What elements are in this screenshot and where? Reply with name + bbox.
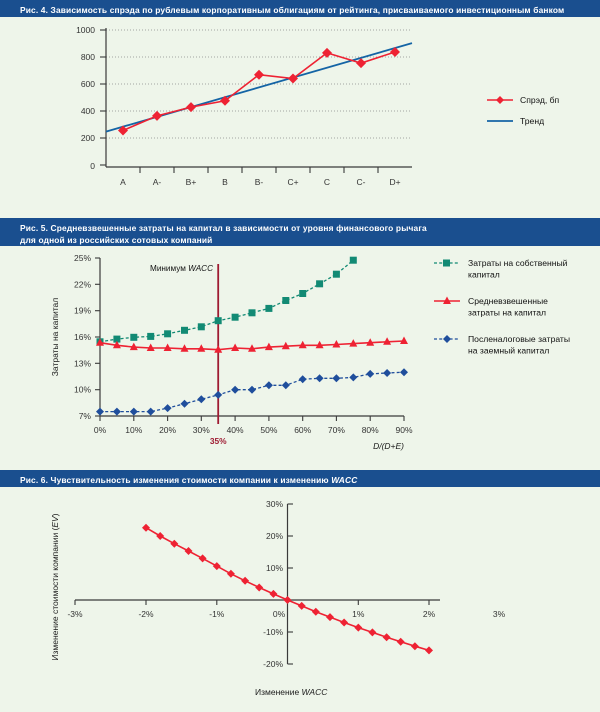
figure5-xtick-8: 80% [362,425,379,435]
figure5-caption-line1: Рис. 5. Средневзвешенные затраты на капи… [20,222,592,234]
figure6-ytick-30: 30% [266,499,283,509]
figure5-ytick-22: 22% [74,279,91,289]
figure5-y-tick-labels: 25% 22% 19% 16% 13% 10% 7% [74,253,91,421]
figure6-x-ticks [75,600,429,605]
figure4-x-ticks [140,167,378,173]
figure4-legend-label-spread: Спрэд, бп [520,95,560,105]
figure4-ytick-800: 800 [81,52,95,62]
figure4-chart: 1000 800 600 400 200 0 A A- [0,17,600,213]
figure4-series-spread [123,52,395,131]
figure6-x-axis-title: Изменение WACC [255,687,328,697]
figure5-xtick-6: 60% [294,425,311,435]
figure6-caption-text: Рис. 6. Чувствительность изменения стоим… [20,475,331,485]
figure4-x-tick-labels: A A- B+ B B- C+ C C- D+ [120,177,400,187]
figure5-ytick-16: 16% [74,332,91,342]
figure5-series-equity [100,260,353,342]
figure5-ytick-10: 10% [74,385,91,395]
figure6-panel: 30% 20% 10% -10% -20% -3% -2% -1% 0% 1% … [0,487,600,712]
figure5-xtick-1: 10% [125,425,142,435]
figure5-xtick-3: 30% [193,425,210,435]
figure5-ytick-19: 19% [74,306,91,316]
figure4-ytick-200: 200 [81,133,95,143]
figure5-ytick-13: 13% [74,358,91,368]
figure5-ytick-7: 7% [79,411,92,421]
figure5-xtick-2: 20% [159,425,176,435]
figure5-xtick-4: 40% [227,425,244,435]
figure6-xtick--3: -3% [67,609,83,619]
figure6-xtick--2: -2% [138,609,154,619]
figure5-legend-label-wacc-l1: Средневзвешенные [468,296,548,306]
page-root: Рис. 4. Зависимость спрэда по рублевым к… [0,0,600,712]
figure5-chart: 25% 22% 19% 16% 13% 10% 7% [0,246,600,463]
figure6-chart: 30% 20% 10% -10% -20% -3% -2% -1% 0% 1% … [0,487,600,712]
figure5-y-ticks [95,258,100,416]
figure6-caption-bar: Рис. 6. Чувствительность изменения стоим… [0,470,600,487]
figure4-xtick-8: D+ [389,177,400,187]
figure4-ytick-0: 0 [90,161,95,171]
figure5-legend-label-wacc-l2: затраты на капитал [468,308,546,318]
figure5-legend: Затраты на собственный капитал Средневзв… [434,258,570,356]
figure5-legend-label-equity-l1: Затраты на собственный [468,258,568,268]
figure5-caption-line2: для одной из российских сотовых компаний [20,234,592,246]
figure4-legend-label-trend: Тренд [520,116,544,126]
figure5-y-axis-title: Затраты на капитал [50,298,60,376]
figure4-xtick-7: C- [357,177,366,187]
figure4-xtick-6: C [324,177,330,187]
figure4-xtick-0: A [120,177,126,187]
figure5-series-equity-markers [97,257,357,346]
figure4-legend: Спрэд, бп Тренд [487,95,560,126]
figure6-xtick-2: 2% [423,609,436,619]
figure5-legend-label-equity-l2: капитал [468,270,500,280]
figure5-x-axis-title: D/(D+E) [373,441,404,451]
figure5-panel: 25% 22% 19% 16% 13% 10% 7% [0,246,600,463]
figure4-ytick-1000: 1000 [76,25,95,35]
figure6-xtick-3: 3% [493,609,506,619]
figure4-xtick-4: B- [255,177,264,187]
figure5-legend-label-debt-l1: Посленалоговые затраты [468,334,570,344]
figure5-caption-bar: Рис. 5. Средневзвешенные затраты на капи… [0,218,600,246]
figure6-ytick--10: -10% [263,627,283,637]
figure5-xtick-0: 0% [94,425,107,435]
figure5-annotation: Минимум WACC [150,264,213,273]
figure6-ytick-10: 10% [266,563,283,573]
figure4-ytick-400: 400 [81,106,95,116]
figure4-xtick-3: B [222,177,228,187]
figure4-y-tick-labels: 1000 800 600 400 200 0 [76,25,95,171]
figure6-y-axis-title: Изменение стоимости компании (EV) [50,513,60,660]
figure4-caption-bar: Рис. 4. Зависимость спрэда по рублевым к… [0,0,600,17]
figure6-caption-italic: WACC [331,475,357,485]
figure4-xtick-1: A- [153,177,162,187]
figure5-xtick-5: 50% [260,425,277,435]
figure4-ytick-600: 600 [81,79,95,89]
figure5-xtick-7: 70% [328,425,345,435]
figure6-xtick-0: 0% [273,609,286,619]
figure5-x-ticks [100,416,404,421]
figure5-legend-marker-debt [443,335,451,343]
figure4-panel: 1000 800 600 400 200 0 A A- [0,17,600,213]
figure6-y-tick-labels: 30% 20% 10% -10% -20% [263,499,283,669]
figure6-xtick-1: 1% [352,609,365,619]
figure4-xtick-2: B+ [186,177,197,187]
figure5-x-tick-labels: 0% 10% 20% 30% 40% 50% 60% 70% 80% 90% [94,425,413,435]
figure6-ytick-20: 20% [266,531,283,541]
figure4-y-ticks [100,30,106,165]
figure5-marker-label: 35% [210,436,227,446]
figure6-y-ticks [288,504,294,664]
figure4-gridlines [106,30,412,138]
figure4-series-spread-markers [118,47,400,136]
figure5-legend-label-debt-l2: на заемный капитал [468,346,549,356]
figure5-xtick-9: 90% [395,425,412,435]
figure4-legend-marker-spread [496,96,504,104]
figure4-xtick-5: C+ [287,177,298,187]
figure5-ytick-25: 25% [74,253,91,263]
figure6-x-tick-labels: -3% -2% -1% 0% 1% 2% 3% [67,609,505,619]
figure5-legend-marker-equity [443,260,450,267]
figure6-xtick--1: -1% [209,609,225,619]
figure6-ytick--20: -20% [263,659,283,669]
figure5-series-wacc-markers [96,337,408,353]
